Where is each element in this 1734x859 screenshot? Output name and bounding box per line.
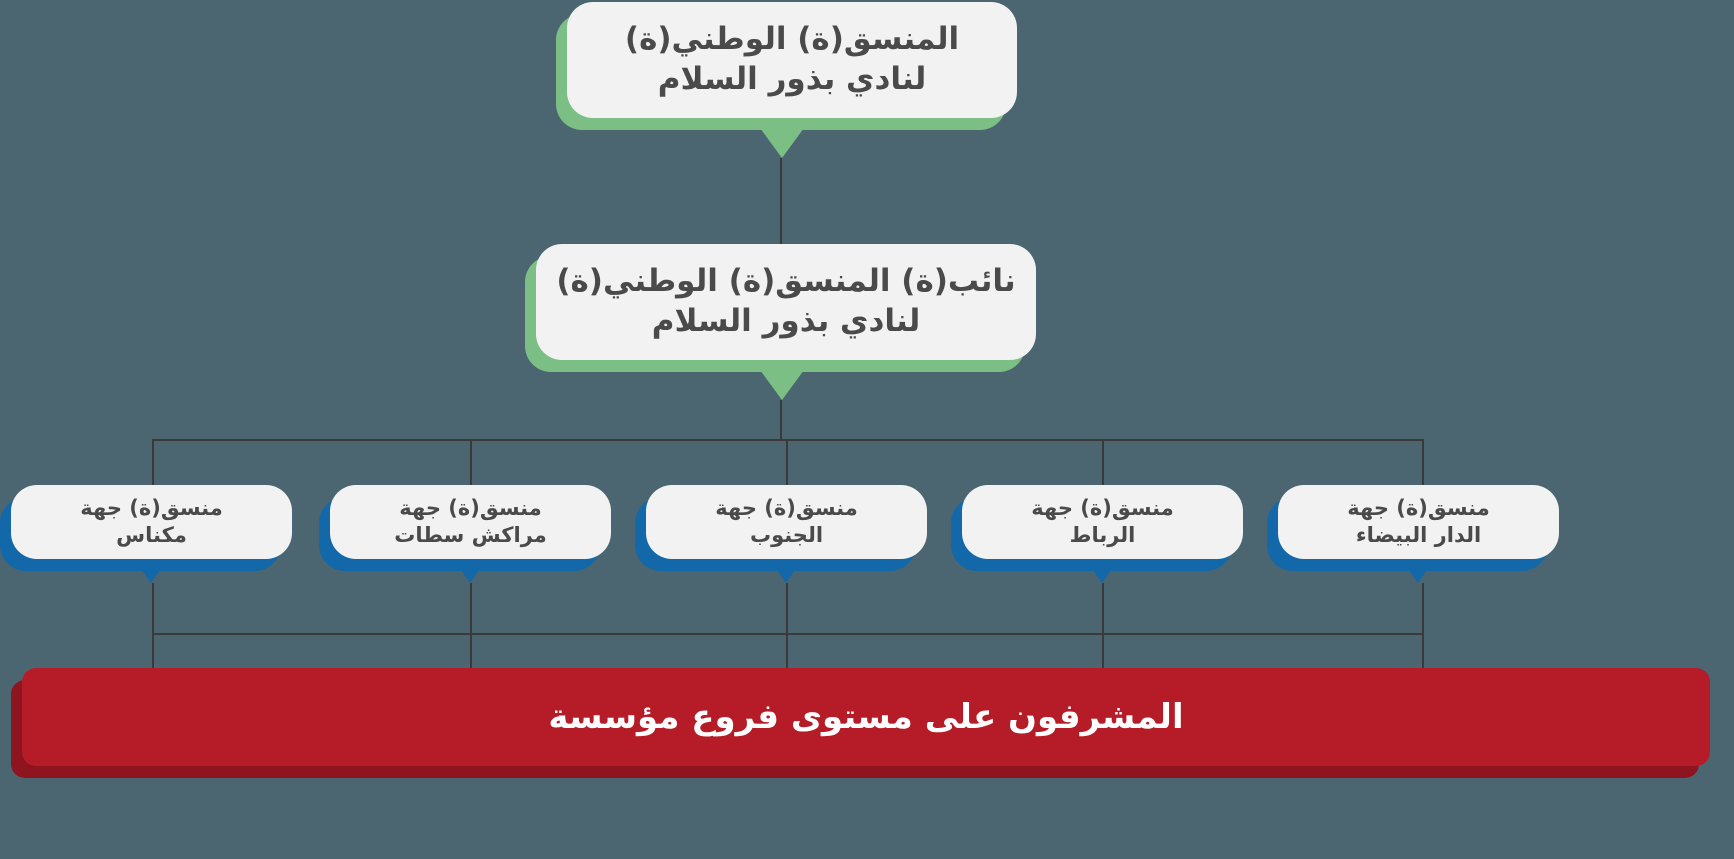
connector-region-4-down xyxy=(1102,583,1104,634)
region-5-arrow-icon xyxy=(1401,559,1435,583)
region-3-line2: الجنوب xyxy=(750,522,823,549)
region-3-arrow-icon xyxy=(769,559,803,583)
national-coordinator-arrow-icon xyxy=(760,128,804,158)
connector-region-2-riser xyxy=(470,439,472,485)
region-1-arrow-icon xyxy=(134,559,168,583)
connector-level2-drop xyxy=(780,400,782,440)
node-deputy-line1: نائب(ة) المنسق(ة) الوطني(ة) xyxy=(556,262,1015,302)
region-5-line2: الدار البيضاء xyxy=(1356,522,1481,549)
connector-region-1-riser xyxy=(152,439,154,485)
node-region-coordinator-south[interactable]: منسق(ة) جهة الجنوب xyxy=(646,485,927,559)
org-chart-canvas: المنسق(ة) الوطني(ة) لنادي بذور السلام نا… xyxy=(0,0,1734,859)
region-3-line1: منسق(ة) جهة xyxy=(715,495,858,522)
region-1-line1: منسق(ة) جهة xyxy=(80,495,223,522)
node-national-coordinator-line1: المنسق(ة) الوطني(ة) xyxy=(625,20,959,60)
node-region-coordinator-casablanca[interactable]: منسق(ة) جهة الدار البيضاء xyxy=(1278,485,1559,559)
connector-region-5-riser xyxy=(1422,439,1424,485)
node-branch-supervisors[interactable]: المشرفون على مستوى فروع مؤسسة xyxy=(22,668,1710,766)
connector-level1-to-level2 xyxy=(780,158,782,244)
node-region-coordinator-rabat[interactable]: منسق(ة) جهة الرباط xyxy=(962,485,1243,559)
node-deputy-line2: لنادي بذور السلام xyxy=(652,302,921,342)
node-region-coordinator-marrakech-safi[interactable]: منسق(ة) جهة مراكش سطات xyxy=(330,485,611,559)
region-1-line2: مكناس xyxy=(116,522,187,549)
region-5-line1: منسق(ة) جهة xyxy=(1347,495,1490,522)
region-4-arrow-icon xyxy=(1085,559,1119,583)
node-deputy-national-coordinator[interactable]: نائب(ة) المنسق(ة) الوطني(ة) لنادي بذور ا… xyxy=(536,244,1036,360)
region-2-arrow-icon xyxy=(453,559,487,583)
region-4-line1: منسق(ة) جهة xyxy=(1031,495,1174,522)
connector-region-1-down xyxy=(152,583,154,634)
region-2-line2: مراكش سطات xyxy=(394,522,547,549)
region-4-line2: الرباط xyxy=(1070,522,1136,549)
region-2-line1: منسق(ة) جهة xyxy=(399,495,542,522)
node-region-coordinator-meknes[interactable]: منسق(ة) جهة مكناس xyxy=(11,485,292,559)
connector-region-2-down xyxy=(470,583,472,634)
footer-bar-label: المشرفون على مستوى فروع مؤسسة xyxy=(548,697,1183,737)
deputy-coordinator-arrow-icon xyxy=(760,370,804,400)
node-national-coordinator-line2: لنادي بذور السلام xyxy=(658,60,927,100)
node-national-coordinator[interactable]: المنسق(ة) الوطني(ة) لنادي بذور السلام xyxy=(567,2,1017,118)
connector-region-3-down xyxy=(786,583,788,634)
connector-region-4-riser xyxy=(1102,439,1104,485)
connector-region-3-riser xyxy=(786,439,788,485)
connector-region-5-down xyxy=(1422,583,1424,634)
